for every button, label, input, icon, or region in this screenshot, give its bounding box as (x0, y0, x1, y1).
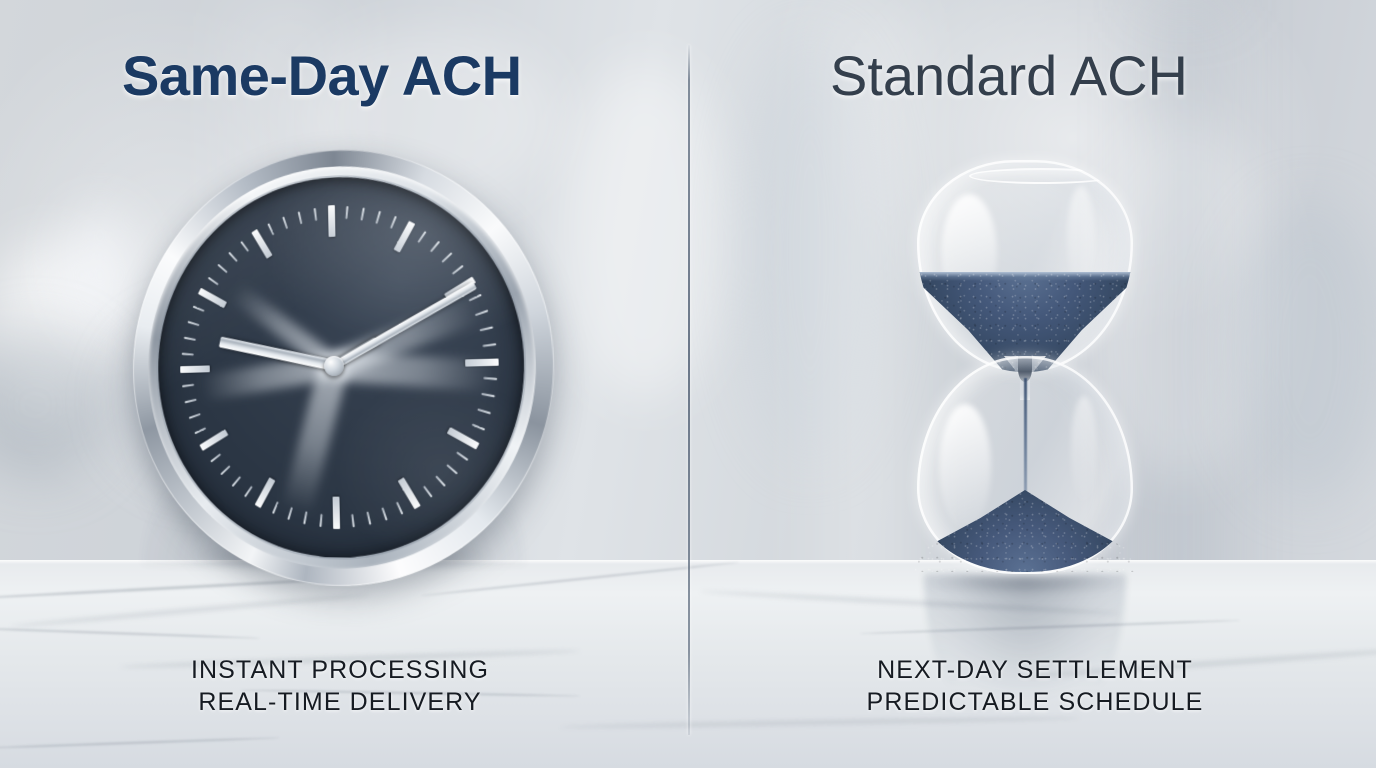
vertical-divider (688, 45, 690, 735)
hourglass-top-bulb (917, 160, 1133, 372)
hourglass (900, 160, 1150, 600)
glass-highlight (1071, 396, 1097, 504)
background-bokeh (1230, 200, 1376, 500)
marble-vein (0, 627, 260, 639)
glass-highlight (939, 404, 991, 530)
caption-line: REAL-TIME DELIVERY (124, 687, 556, 719)
marble-vein (860, 619, 1240, 634)
marble-vein (10, 592, 369, 628)
background-bokeh (0, 330, 110, 480)
caption-standard-ach: NEXT-DAY SETTLEMENT PREDICTABLE SCHEDULE (790, 655, 1280, 718)
caption-line: PREDICTABLE SCHEDULE (790, 687, 1280, 719)
caption-line: INSTANT PROCESSING (124, 655, 556, 687)
background-bokeh (560, 60, 730, 400)
analog-clock (118, 148, 554, 596)
hourglass-contact-shadow (920, 572, 1130, 594)
panel-title-same-day-ach: Same-Day ACH (122, 48, 522, 104)
caption-line: NEXT-DAY SETTLEMENT (790, 655, 1280, 687)
hourglass-rim (969, 168, 1115, 184)
scene: Same-Day ACH INSTANT PROCESSING REAL-TIM… (0, 0, 1376, 768)
marble-vein (0, 737, 280, 749)
background-bokeh (0, 240, 100, 415)
clock-center-hub (324, 356, 344, 377)
panel-title-standard-ach: Standard ACH (830, 48, 1188, 104)
caption-same-day-ach: INSTANT PROCESSING REAL-TIME DELIVERY (124, 655, 556, 718)
